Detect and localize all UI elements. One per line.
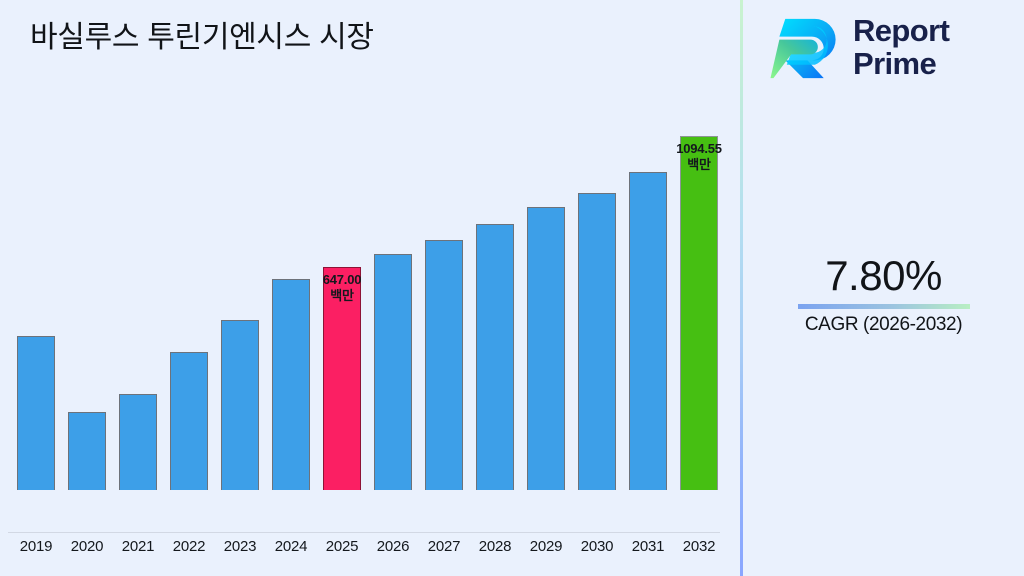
report-prime-logo: Report Prime [769,10,949,84]
x-tick-2025: 2025 [316,538,368,555]
side-panel: Report Prime 7.80% CAGR (2026-2032) [743,0,1024,576]
bar-2019[interactable] [17,336,55,490]
bar-2020[interactable] [68,412,106,490]
x-tick-2024: 2024 [265,538,317,555]
bar-2029[interactable] [527,207,565,490]
x-tick-2030: 2030 [571,538,623,555]
bar-2027[interactable] [425,240,463,490]
x-tick-2032: 2032 [673,538,725,555]
bar-2022[interactable] [170,352,208,490]
x-tick-2029: 2029 [520,538,572,555]
x-tick-2019: 2019 [10,538,62,555]
cagr-divider-rule [798,304,970,309]
bar-value-label-2025: 647.00백만 [287,272,397,304]
chart-screenshot: 바실루스 투린기엔시스 시장 2019202020212022202320242… [0,0,1024,576]
bar-chart: 2019202020212022202320242025202620272028… [0,0,740,576]
bar-2032[interactable] [680,136,718,490]
bar-value-unit-2032: 백만 [644,157,754,173]
x-tick-2022: 2022 [163,538,215,555]
bar-2024[interactable] [272,279,310,490]
report-prime-logo-mark-icon [769,10,843,84]
bar-value-number-2032: 1094.55 [676,141,722,156]
bar-2030[interactable] [578,193,616,490]
cagr-value: 7.80% [743,252,1024,300]
bar-2028[interactable] [476,224,514,490]
x-tick-2023: 2023 [214,538,266,555]
x-tick-2028: 2028 [469,538,521,555]
bar-value-label-2032: 1094.55백만 [644,141,754,173]
plot-area [0,0,740,533]
bar-2021[interactable] [119,394,157,490]
x-tick-2027: 2027 [418,538,470,555]
x-tick-2026: 2026 [367,538,419,555]
x-axis-line [8,532,720,533]
bar-value-number-2025: 647.00 [323,272,362,287]
x-tick-2031: 2031 [622,538,674,555]
report-prime-logo-text: Report Prime [853,14,949,80]
x-tick-2020: 2020 [61,538,113,555]
bar-2031[interactable] [629,172,667,490]
bar-2023[interactable] [221,320,259,490]
logo-text-line1: Report [853,13,949,48]
x-tick-2021: 2021 [112,538,164,555]
cagr-block: 7.80% CAGR (2026-2032) [743,252,1024,336]
cagr-label: CAGR (2026-2032) [743,314,1024,336]
bar-value-unit-2025: 백만 [287,288,397,304]
logo-text-line2: Prime [853,46,936,81]
